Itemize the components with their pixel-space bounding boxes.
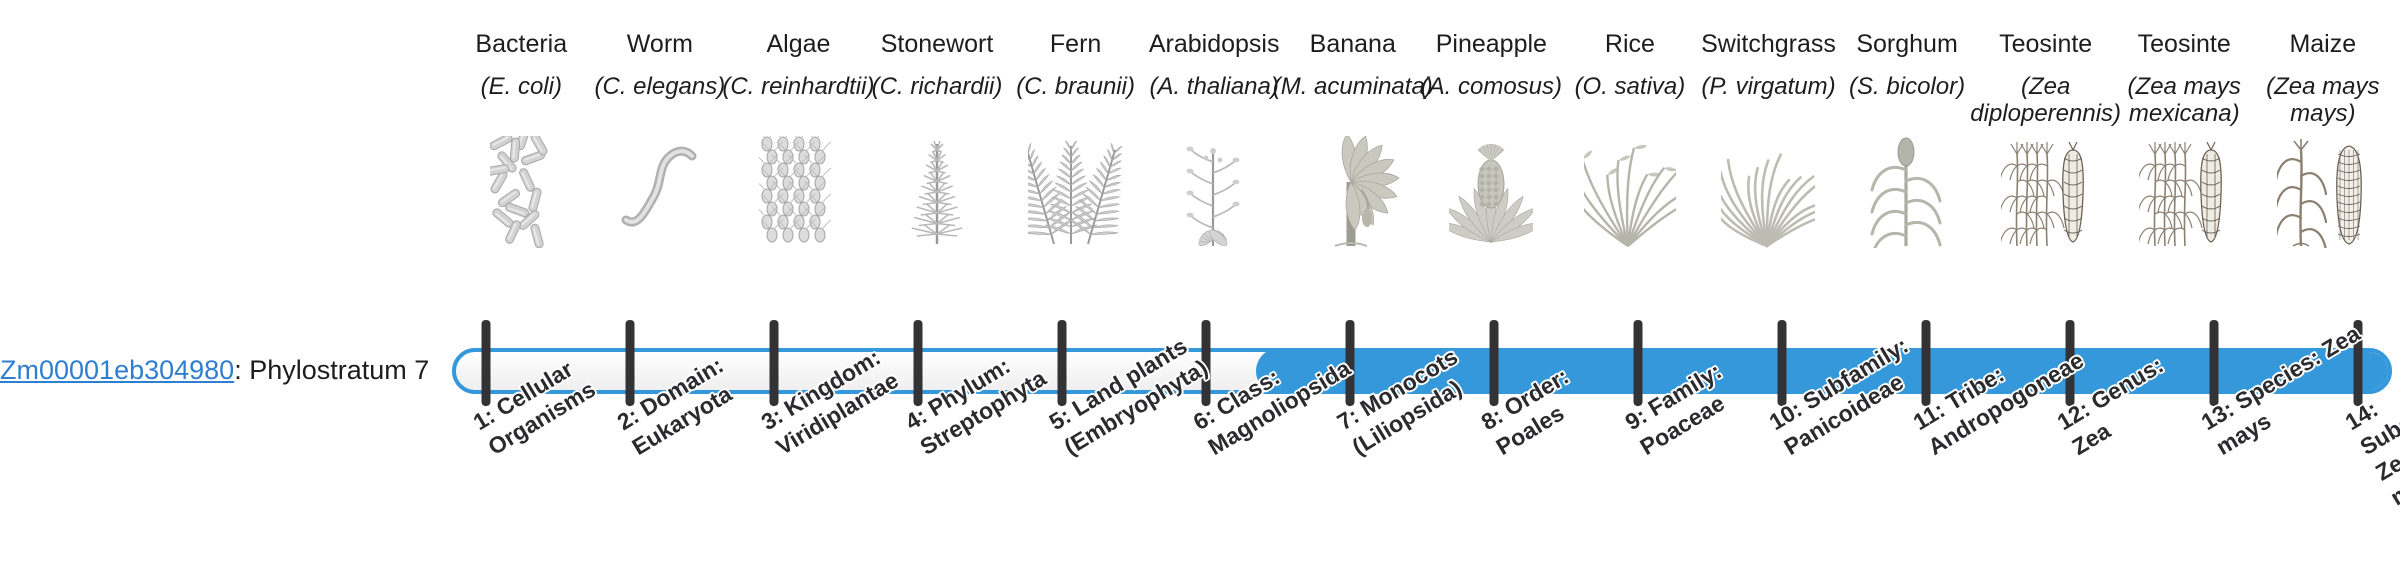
maize-plant-cob-icon — [2254, 136, 2393, 248]
arabidopsis-plant-icon — [1145, 136, 1284, 248]
timeline-tick[interactable] — [1058, 320, 1067, 406]
species-column: Stonewort(C. richardii) — [868, 30, 1007, 248]
species-column: Teosinte(Zea mays mexicana) — [2115, 30, 2254, 248]
fern-frond-icon — [1006, 136, 1145, 248]
species-column: Arabidopsis(A. thaliana) — [1145, 30, 1284, 248]
gene-phylostratum-value: Phylostratum 7 — [249, 355, 429, 385]
species-common-name: Worm — [627, 30, 693, 60]
gene-phylostratum-label: Zm00001eb304980: Phylostratum 7 — [0, 355, 440, 386]
pineapple-plant-icon — [1422, 136, 1561, 248]
gene-label-separator: : — [234, 355, 249, 385]
timeline-tick[interactable] — [1634, 320, 1643, 406]
species-common-name: Teosinte — [2138, 30, 2231, 60]
teosinte-plant-ear-icon — [2115, 136, 2254, 248]
species-common-name: Stonewort — [881, 30, 994, 60]
species-column: Switchgrass(P. virgatum) — [1699, 30, 1838, 248]
stratum-label-row: 1: Cellular Organisms2: Domain: Eukaryot… — [452, 406, 2392, 580]
species-common-name: Banana — [1310, 30, 1396, 60]
species-column: Fern(C. braunii) — [1006, 30, 1145, 248]
species-common-name: Algae — [766, 30, 830, 60]
species-column: Sorghum(S. bicolor) — [1838, 30, 1977, 248]
banana-tree-icon — [1283, 136, 1422, 248]
timeline-tick[interactable] — [1778, 320, 1787, 406]
species-common-name: Arabidopsis — [1149, 30, 1280, 60]
species-common-name: Teosinte — [1999, 30, 2092, 60]
species-common-name: Maize — [2289, 30, 2356, 60]
nematode-worm-icon — [591, 136, 730, 248]
timeline-tick[interactable] — [626, 320, 635, 406]
species-common-name: Sorghum — [1856, 30, 1957, 60]
timeline-tick[interactable] — [482, 320, 491, 406]
bacteria-rods-icon — [452, 136, 591, 248]
species-common-name: Pineapple — [1436, 30, 1547, 60]
species-common-name: Rice — [1605, 30, 1655, 60]
species-column: Teosinte(Zea diploperennis) — [1976, 30, 2115, 248]
timeline-tick[interactable] — [2210, 320, 2219, 406]
green-algae-cells-icon — [729, 136, 868, 248]
species-column: Maize(Zea mays mays) — [2254, 30, 2393, 248]
switchgrass-clump-icon — [1699, 136, 1838, 248]
species-scientific-name: (Zea mays mays) — [2237, 74, 2400, 132]
timeline-tick[interactable] — [914, 320, 923, 406]
species-column: Rice(O. sativa) — [1561, 30, 1700, 248]
stonewort-alga-icon — [868, 136, 1007, 248]
species-common-name: Fern — [1050, 30, 1101, 60]
timeline-tick[interactable] — [1490, 320, 1499, 406]
species-column: Bacteria(E. coli) — [452, 30, 591, 248]
teosinte-plant-ear-icon — [1976, 136, 2115, 248]
gene-id-link[interactable]: Zm00001eb304980 — [0, 355, 234, 385]
sorghum-plant-icon — [1838, 136, 1977, 248]
rice-plant-icon — [1561, 136, 1700, 248]
species-header-row: Bacteria(E. coli)Worm(C. elegans)Algae(C… — [452, 30, 2392, 320]
phylostratigraphy-figure: Zm00001eb304980: Phylostratum 7 Bacteria… — [0, 0, 2400, 580]
timeline-tick[interactable] — [1922, 320, 1931, 406]
species-column: Algae(C. reinhardtii) — [729, 30, 868, 248]
species-column: Worm(C. elegans) — [591, 30, 730, 248]
species-common-name: Switchgrass — [1701, 30, 1836, 60]
timeline-tick[interactable] — [770, 320, 779, 406]
species-common-name: Bacteria — [475, 30, 567, 60]
species-column: Banana(M. acuminata) — [1283, 30, 1422, 248]
species-column: Pineapple(A. comosus) — [1422, 30, 1561, 248]
